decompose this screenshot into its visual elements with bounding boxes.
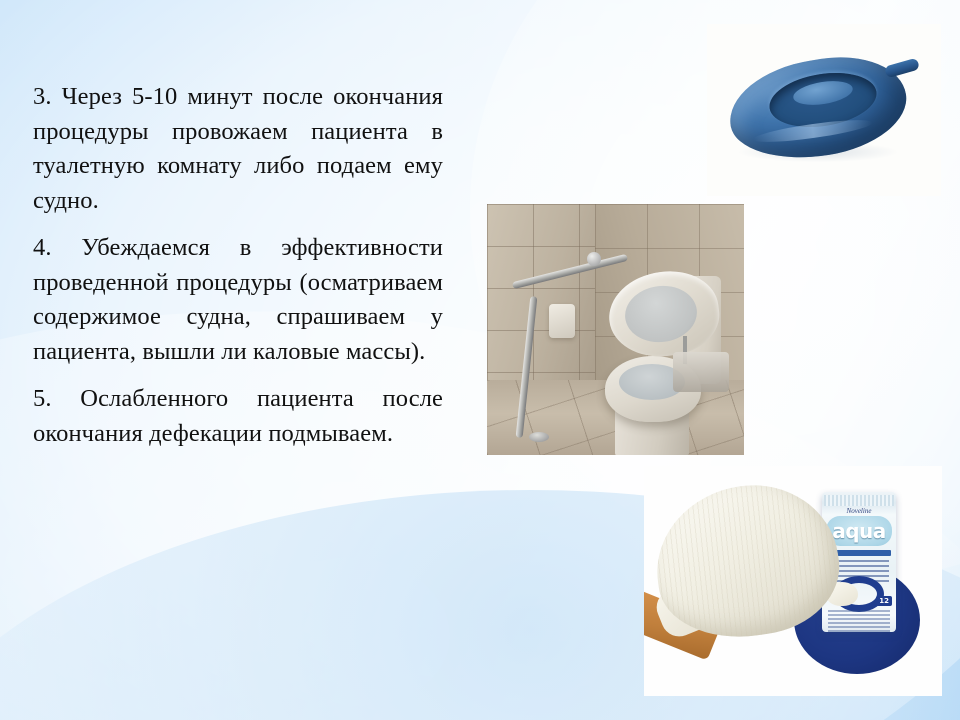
toilet-paper-holder [549, 304, 575, 338]
package-product-name: aqua [832, 519, 886, 543]
package-seal-strip [824, 495, 894, 506]
package-brand-name: Noveline [822, 507, 896, 515]
accessible-toilet-photo [487, 204, 744, 455]
bedpan-photo [707, 24, 941, 196]
package-logo: aqua [826, 516, 892, 546]
bedpan-handle [884, 58, 920, 79]
paragraph-3: 3. Через 5-10 минут после окончания проц… [33, 80, 443, 218]
bedpan-illustration [707, 24, 941, 196]
grab-bar-joint [587, 252, 601, 266]
paragraph-4: 4. Убеждаемся в эффективности проведенно… [33, 231, 443, 369]
slide: 3. Через 5-10 минут после окончания проц… [0, 0, 960, 720]
paragraph-5: 5. Ослабленного пациента после окончания… [33, 382, 443, 451]
toilet-brush-holder [673, 352, 729, 392]
washing-mitt-photo: Noveline aqua 12 [644, 466, 942, 696]
grab-bar-floor-mount [529, 432, 549, 442]
tiled-wall-left [487, 204, 595, 400]
slide-body-text: 3. Через 5-10 минут после окончания проц… [33, 80, 443, 451]
package-count-badge: 12 [876, 596, 892, 606]
package-footer-text-lines [828, 610, 890, 632]
